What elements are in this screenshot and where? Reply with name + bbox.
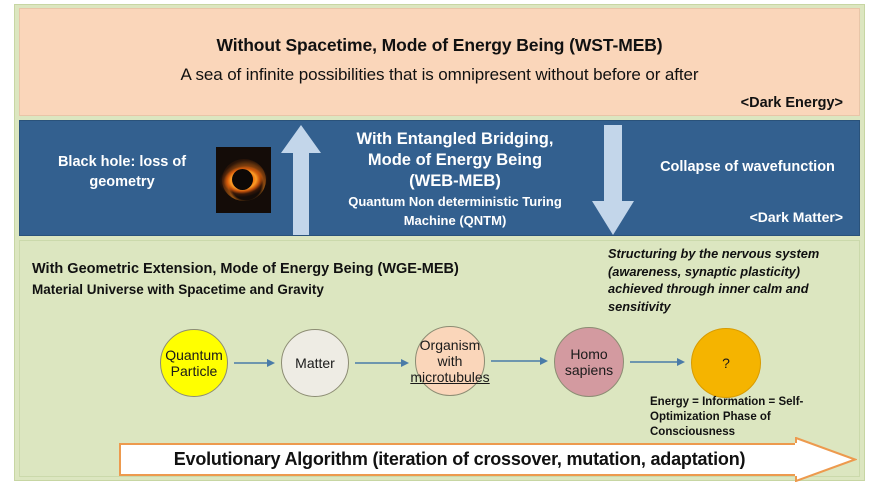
chain-connector-arrow-icon [630,357,685,367]
chain-node-label: QuantumParticle [165,347,223,379]
chain-node-label: Homosapiens [565,346,613,378]
chain-node-organism[interactable]: Organismwithmicrotubules [415,326,485,396]
chain-node-label: Organismwithmicrotubules [410,337,489,385]
chain-node-unknown-future[interactable]: ? [691,328,761,398]
evolutionary-algorithm-banner: Evolutionary Algorithm (iteration of cro… [119,443,857,476]
chain-connector-arrow-icon [234,358,275,368]
black-hole-image [216,147,271,213]
web-meb-title-line3: (WEB-MEB) [320,171,590,192]
dark-energy-tag: <Dark Energy> [741,95,843,111]
web-meb-title-line1: With Entangled Bridging, [320,129,590,150]
nervous-system-note: Structuring by the nervous system (aware… [608,245,858,316]
dark-matter-tag: <Dark Matter> [750,209,843,225]
chain-node-homo-sapiens[interactable]: Homosapiens [554,327,624,397]
wst-meb-title: Without Spacetime, Mode of Energy Being … [20,35,859,56]
chain-node-quantum-particle[interactable]: QuantumParticle [160,329,228,397]
wst-meb-subtitle: A sea of infinite possibilities that is … [20,65,859,85]
wge-meb-subheading: Material Universe with Spacetime and Gra… [32,282,324,297]
diagram-canvas: Without Spacetime, Mode of Energy Being … [0,0,876,485]
web-meb-title-line2: Mode of Energy Being [320,150,590,171]
black-hole-label: Black hole: loss of geometry [42,153,202,192]
qntm-subtitle-line1: Quantum Non deterministic Turing [320,194,590,210]
chain-connector-arrow-icon [491,356,548,366]
collapse-of-wavefunction-label: Collapse of wavefunction [640,159,855,175]
upward-arrow-icon [280,123,322,236]
qntm-subtitle-line2: Machine (QNTM) [320,213,590,229]
consciousness-caption: Energy = Information = Self-Optimization… [650,395,855,441]
band-with-entangled-bridging: Black hole: loss of geometry With Entang… [19,120,860,236]
evolutionary-algorithm-label: Evolutionary Algorithm (iteration of cro… [119,443,800,476]
web-meb-center-block: With Entangled Bridging, Mode of Energy … [320,129,590,229]
evolutionary-algorithm-arrowhead-icon [795,437,857,482]
chain-node-label: Matter [295,355,335,371]
chain-node-label: ? [722,355,730,371]
chain-connector-arrow-icon [355,358,409,368]
band-without-spacetime: Without Spacetime, Mode of Energy Being … [19,8,860,116]
black-hole-shadow [232,169,253,190]
chain-node-matter[interactable]: Matter [281,329,349,397]
downward-arrow-icon [590,123,636,236]
wge-meb-heading: With Geometric Extension, Mode of Energy… [32,261,459,277]
